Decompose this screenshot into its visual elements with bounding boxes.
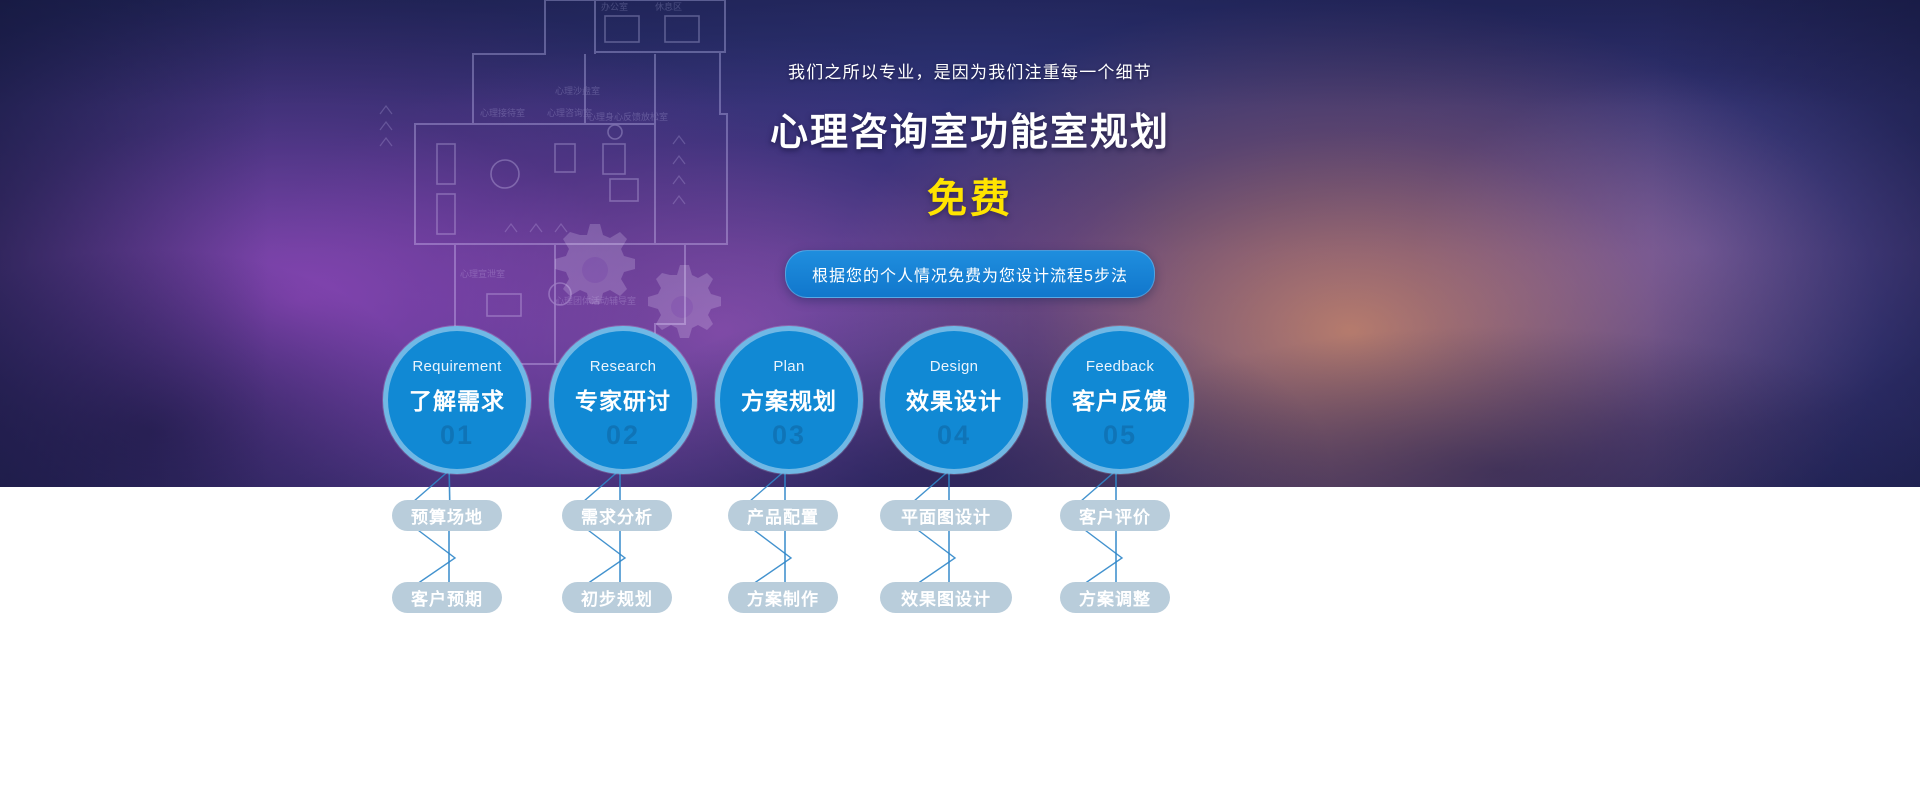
cta-button[interactable]: 根据您的个人情况免费为您设计流程5步法 <box>785 250 1155 298</box>
step-circle-1[interactable]: Requirement 了解需求 01 <box>383 326 531 474</box>
step-bottom-pill-2[interactable]: 初步规划 <box>562 582 672 613</box>
step-top-pill-4[interactable]: 平面图设计 <box>880 500 1012 531</box>
step-number: 02 <box>606 420 640 451</box>
step-top-pill-1[interactable]: 预算场地 <box>392 500 502 531</box>
step-top-pill-2[interactable]: 需求分析 <box>562 500 672 531</box>
step-label-cn: 方案规划 <box>741 382 837 416</box>
step-circle-4[interactable]: Design 效果设计 04 <box>880 326 1028 474</box>
step-top-pill-5[interactable]: 客户评价 <box>1060 500 1170 531</box>
step-circle-2[interactable]: Research 专家研讨 02 <box>549 326 697 474</box>
step-number: 01 <box>440 420 474 451</box>
step-label-en: Design <box>930 358 979 375</box>
step-label-cn: 客户反馈 <box>1072 382 1168 416</box>
step-label-cn: 了解需求 <box>409 382 505 416</box>
hero-kicker: 我们之所以专业，是因为我们注重每一个细节 <box>760 58 1180 83</box>
step-label-en: Feedback <box>1086 358 1154 375</box>
step-label-cn: 效果设计 <box>906 382 1002 416</box>
step-bottom-pill-5[interactable]: 方案调整 <box>1060 582 1170 613</box>
step-label-en: Requirement <box>412 358 501 375</box>
step-number: 05 <box>1103 420 1137 451</box>
hero-text-block: 我们之所以专业，是因为我们注重每一个细节 心理咨询室功能室规划 免费 根据您的个… <box>760 58 1180 298</box>
step-number: 03 <box>772 420 806 451</box>
step-bottom-pill-1[interactable]: 客户预期 <box>392 582 502 613</box>
step-label-cn: 专家研讨 <box>575 382 671 416</box>
page-title: 心理咨询室功能室规划 <box>760 101 1180 156</box>
step-circle-3[interactable]: Plan 方案规划 03 <box>715 326 863 474</box>
free-badge: 免费 <box>760 166 1180 224</box>
step-label-en: Research <box>590 358 657 375</box>
step-label-en: Plan <box>773 358 804 375</box>
step-top-pill-3[interactable]: 产品配置 <box>728 500 838 531</box>
step-circle-5[interactable]: Feedback 客户反馈 05 <box>1046 326 1194 474</box>
step-bottom-pill-4[interactable]: 效果图设计 <box>880 582 1012 613</box>
step-bottom-pill-3[interactable]: 方案制作 <box>728 582 838 613</box>
step-number: 04 <box>937 420 971 451</box>
